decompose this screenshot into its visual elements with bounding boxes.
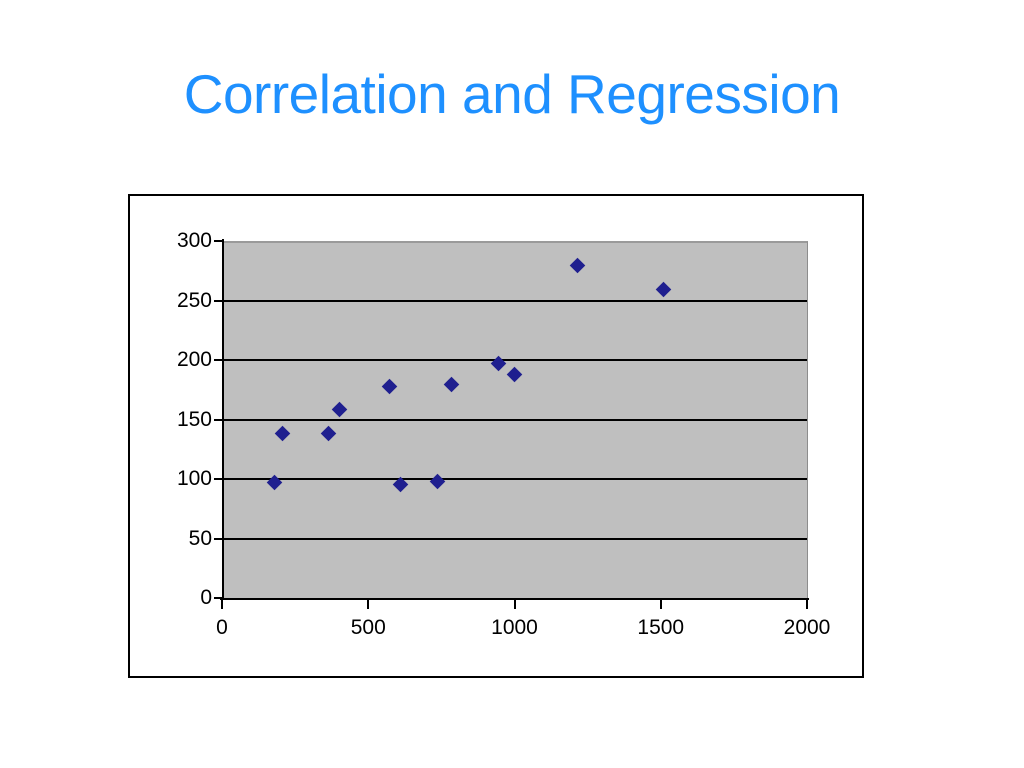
chart-frame: 050100150200250300 0500100015002000 — [128, 194, 864, 678]
plot-area — [222, 241, 808, 600]
y-axis-tick — [214, 419, 223, 421]
gridline — [222, 300, 807, 302]
slide: Correlation and Regression 0501001502002… — [0, 0, 1024, 768]
y-axis-tick-label: 50 — [138, 528, 212, 549]
y-axis-tick-label: 100 — [138, 468, 212, 489]
y-axis-tick-label: 200 — [138, 349, 212, 370]
y-axis-tick — [214, 300, 223, 302]
x-axis-tick-label: 500 — [313, 617, 423, 638]
page-title: Correlation and Regression — [0, 62, 1024, 126]
y-axis-tick — [214, 359, 223, 361]
y-axis-tick-label: 300 — [138, 230, 212, 251]
x-axis-tick-label: 2000 — [752, 617, 862, 638]
y-axis-tick — [214, 538, 223, 540]
gridline — [222, 538, 807, 540]
y-axis-tick-label: 250 — [138, 290, 212, 311]
x-axis-tick — [221, 598, 223, 609]
x-axis-tick — [806, 598, 808, 609]
x-axis-tick — [514, 598, 516, 609]
y-axis-tick — [214, 240, 223, 242]
y-axis-tick-label: 150 — [138, 409, 212, 430]
x-axis-tick-label: 0 — [167, 617, 277, 638]
gridline — [222, 419, 807, 421]
x-axis-tick-label: 1000 — [460, 617, 570, 638]
y-axis-tick — [214, 478, 223, 480]
x-axis-tick — [367, 598, 369, 609]
y-axis-tick-label: 0 — [138, 587, 212, 608]
gridline — [222, 359, 807, 361]
gridline — [222, 478, 807, 480]
x-axis-tick-label: 1500 — [606, 617, 716, 638]
scatter-chart: 050100150200250300 0500100015002000 — [130, 196, 862, 676]
x-axis-tick — [660, 598, 662, 609]
